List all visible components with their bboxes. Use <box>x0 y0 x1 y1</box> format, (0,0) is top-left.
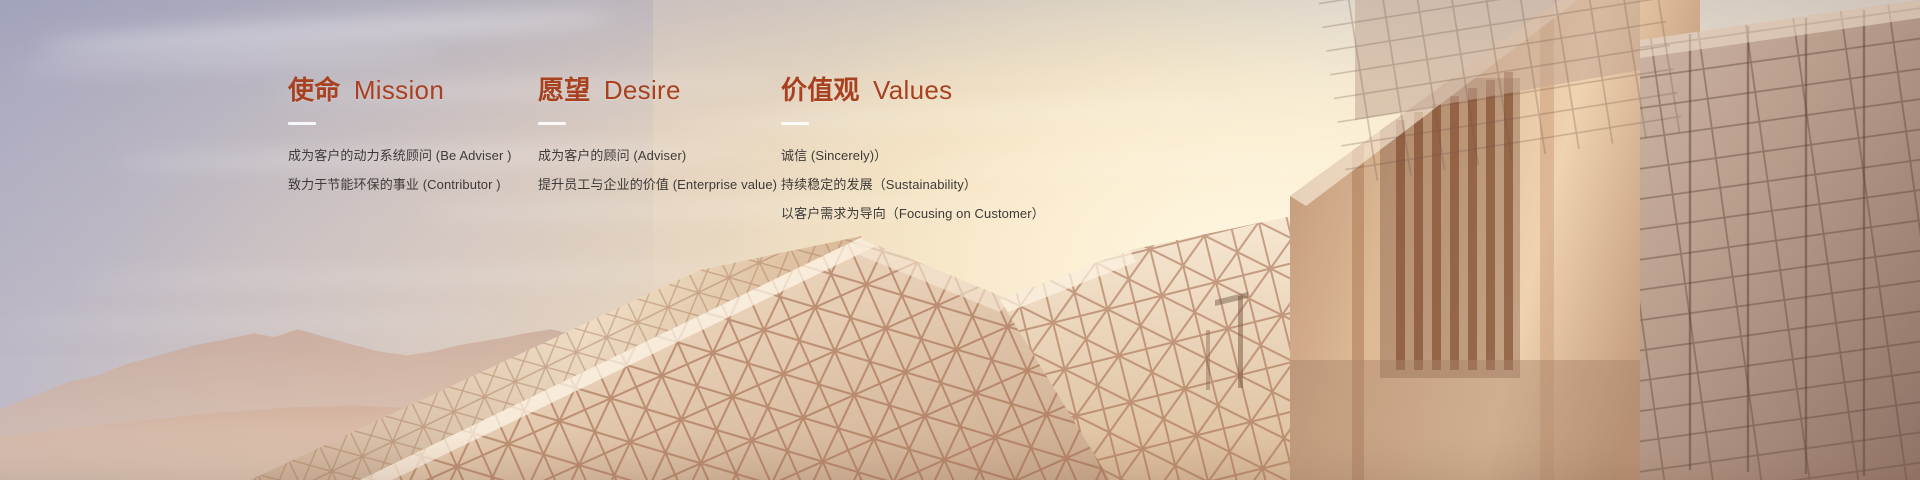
culture-line: 持续稳定的发展（Sustainability） <box>781 170 1121 199</box>
culture-column-desire: 愿望 Desire 成为客户的顾问 (Adviser) 提升员工与企业的价值 (… <box>538 74 781 199</box>
culture-line: 以客户需求为导向（Focusing on Customer） <box>781 199 1121 228</box>
culture-line: 成为客户的动力系统顾问 (Be Adviser ) <box>288 141 538 170</box>
column-heading-mission: 使命 Mission <box>288 74 538 106</box>
heading-cn-desire: 愿望 <box>538 75 590 105</box>
culture-line: 成为客户的顾问 (Adviser) <box>538 141 781 170</box>
heading-cn-values: 价值观 <box>781 75 860 105</box>
heading-cn-mission: 使命 <box>288 75 340 105</box>
culture-line: 提升员工与企业的价值 (Enterprise value) <box>538 170 781 199</box>
culture-line: 诚信 (Sincerely)） <box>781 141 1121 170</box>
culture-content: 使命 Mission 成为客户的动力系统顾问 (Be Adviser ) 致力于… <box>0 0 1920 480</box>
heading-divider-desire <box>538 122 566 125</box>
culture-column-mission: 使命 Mission 成为客户的动力系统顾问 (Be Adviser ) 致力于… <box>288 74 538 199</box>
culture-banner: 使命 Mission 成为客户的动力系统顾问 (Be Adviser ) 致力于… <box>0 0 1920 480</box>
heading-en-values: Values <box>873 75 952 105</box>
heading-divider-values <box>781 122 809 125</box>
heading-en-mission: Mission <box>354 75 444 105</box>
culture-line: 致力于节能环保的事业 (Contributor ) <box>288 170 538 199</box>
column-heading-desire: 愿望 Desire <box>538 74 781 106</box>
culture-column-values: 价值观 Values 诚信 (Sincerely)） 持续稳定的发展（Susta… <box>781 74 1121 228</box>
heading-divider-mission <box>288 122 316 125</box>
culture-columns: 使命 Mission 成为客户的动力系统顾问 (Be Adviser ) 致力于… <box>288 74 1121 228</box>
column-heading-values: 价值观 Values <box>781 74 1121 106</box>
heading-en-desire: Desire <box>604 75 681 105</box>
